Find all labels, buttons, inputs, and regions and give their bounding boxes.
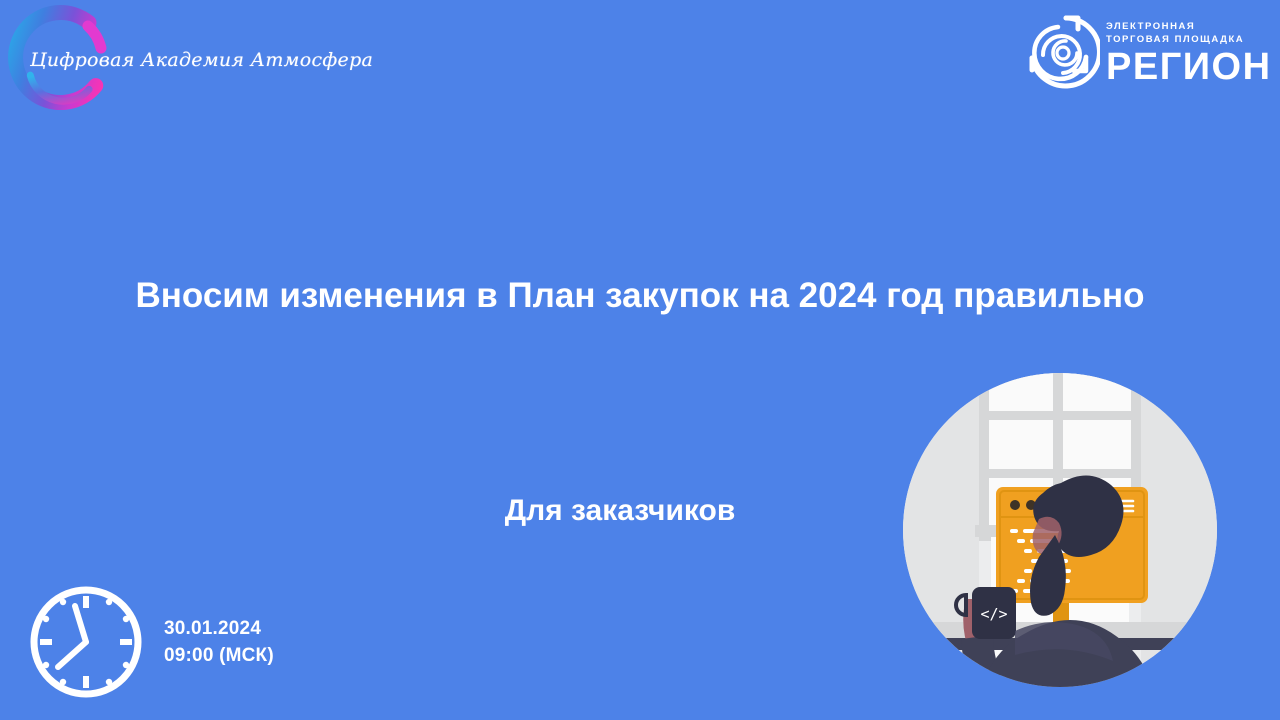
academy-logo-name: Цифровая Академия Атмосфера [30,49,373,71]
region-subtitle-line1: ЭЛЕКТРОННАЯ [1106,20,1272,33]
schedule-time: 09:00 (МСК) [164,642,274,669]
person-at-computer-illustration: </> [903,363,1217,720]
mug-code-symbol: </> [980,605,1007,623]
spiral-rings-icon [1022,13,1100,91]
region-logo-text: ЭЛЕКТРОННАЯ ТОРГОВАЯ ПЛОЩАДКА РЕГИОН [1106,18,1272,87]
slide-root: Цифровая Академия Атмосфера ЭЛЕКТРОННА [0,0,1280,720]
page-title: Вносим изменения в План закупок на 2024 … [0,276,1280,316]
academy-logo: Цифровая Академия Атмосфера [0,0,330,120]
region-subtitle-line2: ТОРГОВАЯ ПЛОЩАДКА [1106,33,1272,46]
illustration-svg: </> [903,363,1217,720]
region-title: РЕГИОН [1106,47,1272,87]
schedule-date: 30.01.2024 [164,615,274,642]
region-logo: ЭЛЕКТРОННАЯ ТОРГОВАЯ ПЛОЩАДКА РЕГИОН [1022,6,1272,98]
clock-icon [25,581,147,703]
schedule-block: 30.01.2024 09:00 (МСК) [25,578,345,706]
schedule-text: 30.01.2024 09:00 (МСК) [164,615,274,669]
